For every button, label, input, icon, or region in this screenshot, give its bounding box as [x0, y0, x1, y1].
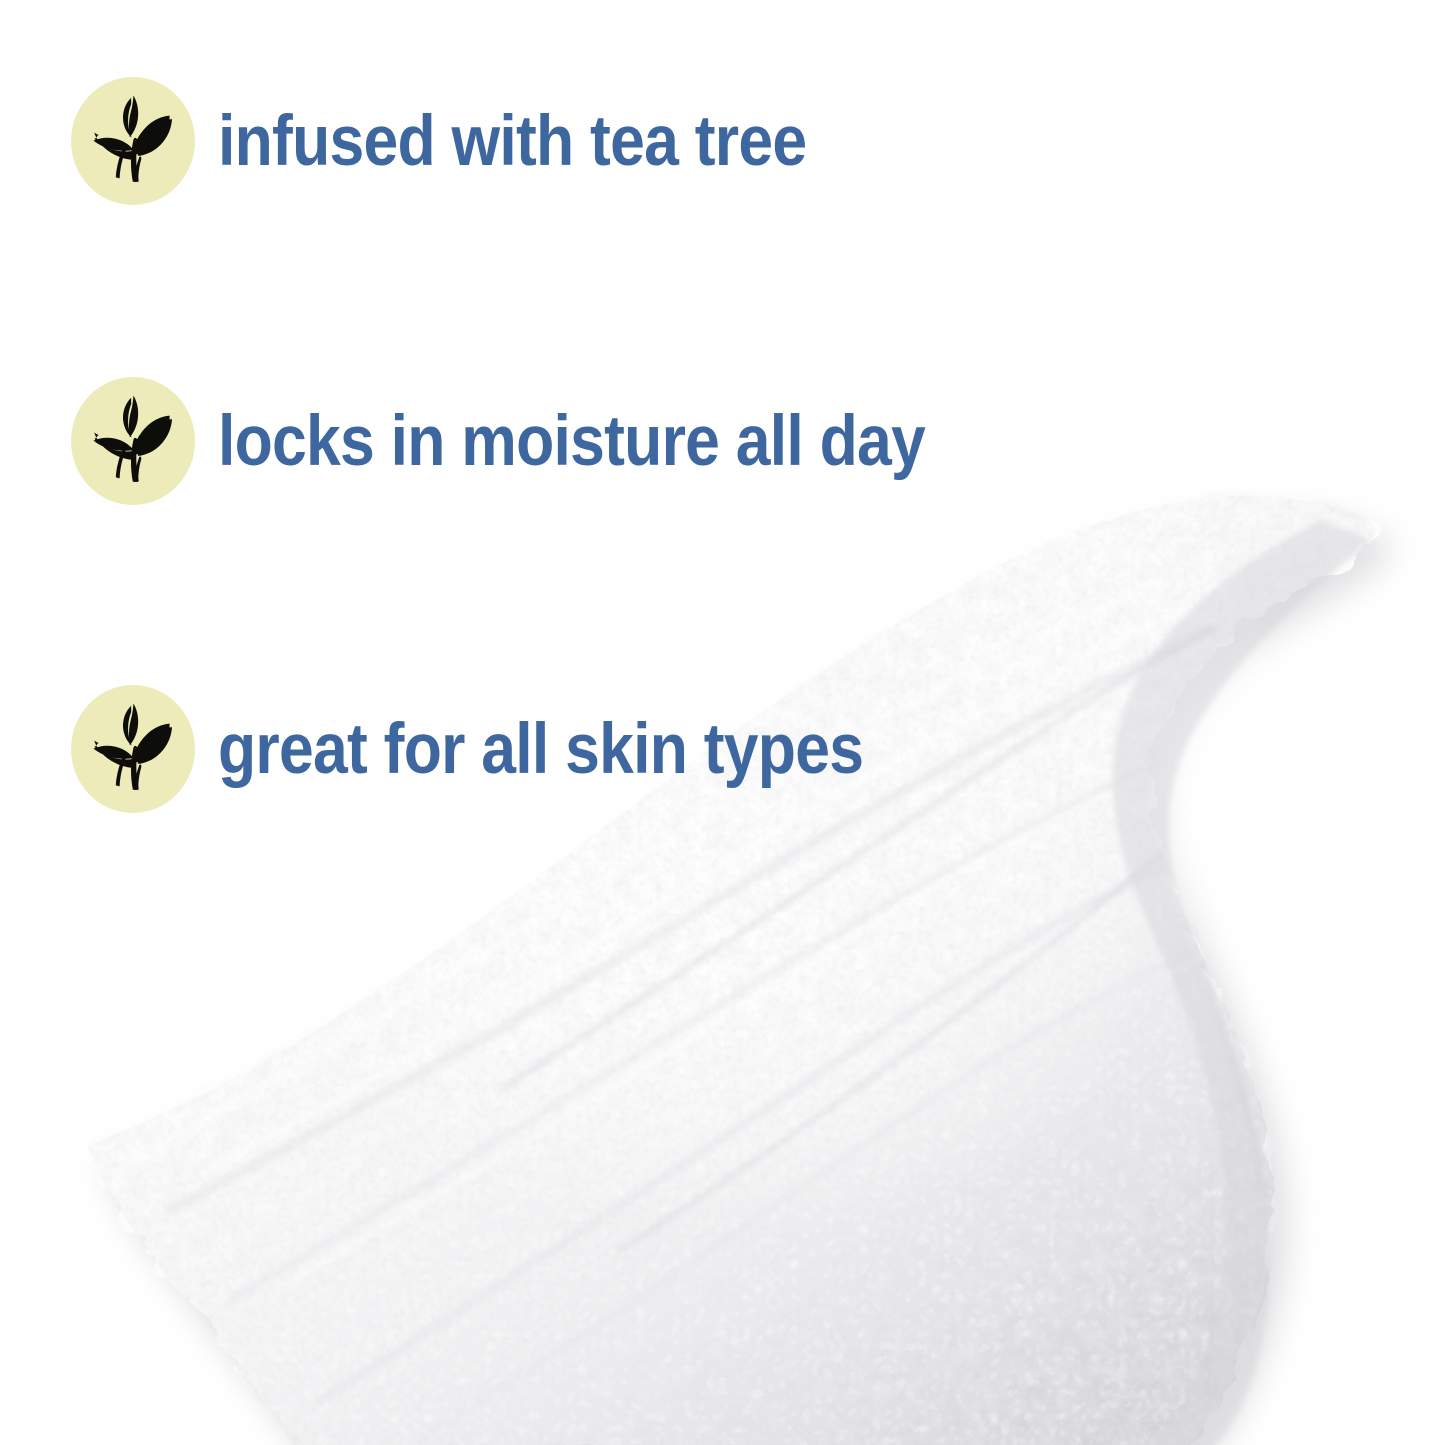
tea-leaf-icon	[70, 684, 196, 814]
benefit-label: great for all skin types	[218, 714, 863, 785]
tea-leaf-icon	[70, 76, 196, 206]
benefit-row: locks in moisture all day	[70, 376, 1021, 506]
benefit-row: great for all skin types	[70, 684, 951, 814]
benefit-row: infused with tea tree	[70, 76, 887, 206]
tea-leaf-icon	[70, 376, 196, 506]
benefit-label: infused with tea tree	[218, 106, 806, 177]
benefit-label: locks in moisture all day	[218, 406, 925, 477]
infographic-canvas: infused with tea tree locks in moisture	[0, 0, 1445, 1445]
